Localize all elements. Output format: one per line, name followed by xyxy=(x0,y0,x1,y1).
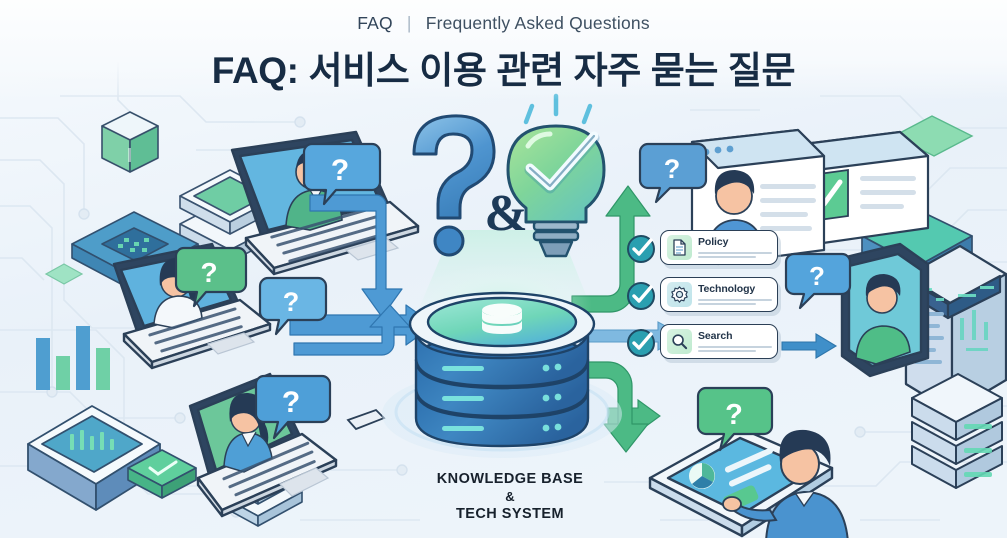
phone-person-bubble: ? xyxy=(788,248,858,312)
card-line-1 xyxy=(698,346,772,348)
faq-infographic: ? ? ? xyxy=(0,0,1007,538)
iso-tile-small-green xyxy=(42,258,88,288)
eyebrow-tag: FAQ xyxy=(357,13,393,33)
bubble-question-glyph: ? xyxy=(283,287,300,317)
database-cylinder xyxy=(390,262,620,472)
question-mark-glyph xyxy=(414,116,494,218)
card-policy[interactable]: Policy xyxy=(660,230,778,265)
bubble-question-glyph: ? xyxy=(282,386,300,419)
bubble-question-glyph: ? xyxy=(664,154,681,184)
bubble-question-glyph: ? xyxy=(331,154,349,187)
laptop-top-bubble: ? xyxy=(306,136,384,208)
magnifier-icon xyxy=(667,329,692,354)
check-badge-technology[interactable] xyxy=(625,279,657,311)
page-title: FAQ: 서비스 이용 관련 자주 묻는 질문 xyxy=(0,40,1007,94)
card-search[interactable]: Search xyxy=(660,324,778,359)
check-badge-policy[interactable] xyxy=(625,232,657,264)
database-glyph xyxy=(482,304,522,335)
header-band: FAQ | Frequently Asked Questions FAQ: 서비… xyxy=(0,0,1007,100)
card-line-1 xyxy=(698,252,772,254)
card-label: Technology xyxy=(698,284,771,295)
base-label-ampersand: & xyxy=(385,489,635,506)
eyebrow-text: Frequently Asked Questions xyxy=(426,13,650,33)
base-label-line1: KNOWLEDGE BASE xyxy=(437,471,583,487)
server-stack-small xyxy=(906,372,1007,512)
gear-icon xyxy=(667,282,692,307)
check-badge-search[interactable] xyxy=(625,326,657,358)
card-label: Search xyxy=(698,331,771,342)
card-technology[interactable]: Technology xyxy=(660,277,778,312)
question-and-bulb-group: & xyxy=(398,108,608,288)
document-icon xyxy=(667,235,692,260)
card-line-2 xyxy=(698,256,756,258)
question-mark-dot xyxy=(435,227,463,255)
base-label: KNOWLEDGE BASE & TECH SYSTEM xyxy=(385,470,635,524)
bubble-question-glyph: ? xyxy=(200,257,217,288)
floating-bubble-left: ? xyxy=(262,272,332,340)
eyebrow: FAQ | Frequently Asked Questions xyxy=(0,13,1007,34)
card-line-2 xyxy=(698,303,756,305)
card-line-2 xyxy=(698,350,756,352)
base-label-line3: TECH SYSTEM xyxy=(456,506,564,522)
laptop-bottom-bubble: ? xyxy=(258,370,336,442)
eyebrow-separator: | xyxy=(407,13,412,33)
lightbulb-base xyxy=(534,222,578,256)
browser-person-bubble: ? xyxy=(642,138,714,206)
bubble-question-glyph: ? xyxy=(809,261,825,291)
bubble-question-glyph: ? xyxy=(725,399,743,431)
card-line-1 xyxy=(698,299,772,301)
blue-arrow-to-phone xyxy=(782,326,842,366)
card-label: Policy xyxy=(698,237,771,248)
tablet-person-bubble: ? xyxy=(700,382,780,454)
laptop-mid-bubble: ? xyxy=(178,242,252,312)
